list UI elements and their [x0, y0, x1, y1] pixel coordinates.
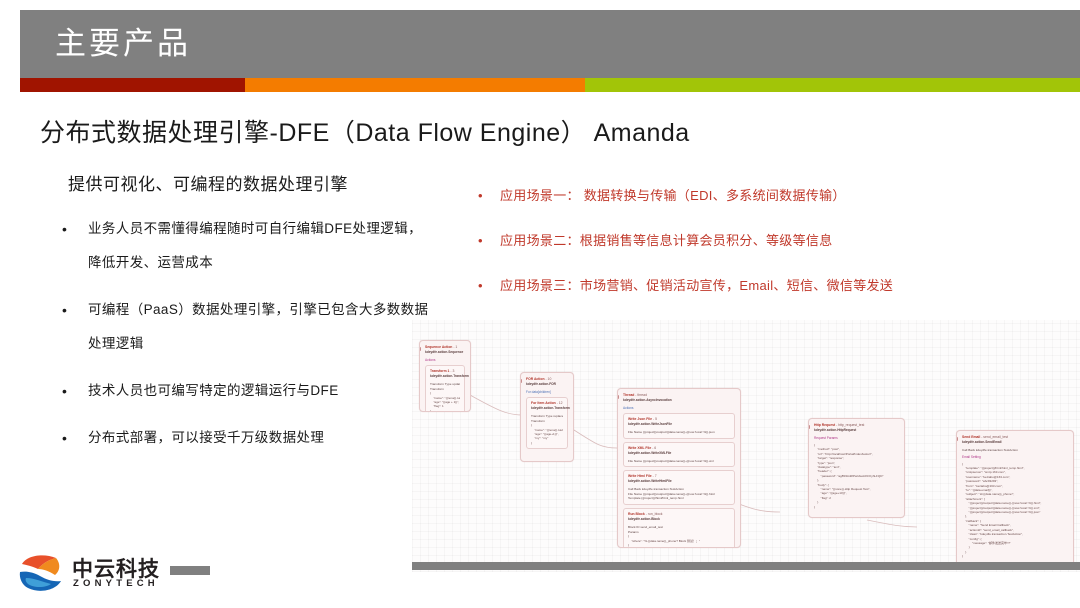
bullet-marker: •	[62, 293, 88, 327]
inner-node-line: Transform Type update	[430, 382, 460, 387]
node-code: { "template": "{{project}}/html/html_tem…	[962, 462, 1068, 559]
list-item: • 分布式部署，可以接受千万级数据处理	[62, 421, 432, 455]
slide: 主要产品 分布式数据处理引擎-DFE（Data Flow Engine） Ama…	[0, 0, 1080, 608]
node-code: { "method": "post", "url": "http://local…	[814, 443, 899, 509]
inner-node-line: File Name {{project}}/output/{{data.name…	[628, 459, 730, 464]
list-item: • 技术人员也可编写特定的逻辑运行与DFE	[62, 374, 432, 408]
logo-rule	[170, 566, 210, 575]
node-section-label: Request Params	[814, 436, 899, 441]
list-item-label: 分布式部署，可以接受千万级数据处理	[88, 421, 432, 455]
inner-node-code: { "name": "{{none}} Hello", "age": "{{ag…	[430, 391, 460, 412]
node-class: kdeydfe.action.SendEmail	[962, 440, 1068, 445]
inner-node-line: Transform Type replace	[531, 414, 563, 419]
diagram-bottom-strip	[412, 562, 1080, 570]
node-class: kdeydfe.action.HttpRequest	[814, 428, 899, 433]
inner-action-card[interactable]: Write XML File - 6 kdeydfe.action.WriteX…	[623, 442, 735, 468]
list-item-label: 业务人员不需懂得编程随时可自行编辑DFE处理逻辑，降低开发、运营成本	[88, 212, 432, 280]
node-port-icon	[956, 437, 958, 441]
node-send-email[interactable]: Send Email - send_email_test kdeydfe.act…	[956, 430, 1074, 568]
node-sequence-action[interactable]: Sequence Action - 1 kdeydfe.action.Seque…	[419, 340, 471, 412]
inner-action-card[interactable]: Run Block - run_block kdeydfe.action.Blo…	[623, 508, 735, 548]
list-item: • 应用场景二：根据销售等信息计算会员积分、等级等信息	[478, 231, 1058, 251]
inner-node-class: kdeydfe.action.Transform	[531, 406, 563, 411]
inner-action-card[interactable]: For Item Action - 12 kdeydfe.action.Tran…	[526, 397, 568, 449]
subject-title: 分布式数据处理引擎-DFE（Data Flow Engine） Amanda	[40, 113, 690, 149]
inner-node-class: kdeydfe.action.WriteJsonFile	[628, 422, 730, 427]
use-case-list: • 应用场景一： 数据转换与传输（EDI、多系统间数据传输） • 应用场景二：根…	[478, 186, 1058, 321]
list-item: • 应用场景三：市场营销、促销活动宣传，Email、短信、微信等发送	[478, 276, 1058, 296]
inner-node-class: kdeydfe.action.WriteXMLFile	[628, 451, 730, 456]
node-class: kdeydfe.action.Sequence	[425, 350, 465, 355]
inner-action-card[interactable]: Transform 1 - 3 kdeydfe.action.Transform…	[425, 365, 465, 412]
node-class: kdeydfe.action.AsyncInvocation	[623, 398, 735, 403]
lead-text: 提供可视化、可编程的数据处理引擎	[68, 170, 348, 195]
logo-text-en: ZONYTECH	[73, 578, 159, 589]
bullet-marker: •	[478, 231, 500, 251]
inner-node-class: kdeydfe.action.Block	[628, 517, 730, 522]
node-line: Call Back kdeydfe.transaction.TestAction	[962, 448, 1068, 453]
zonytech-emblem-icon	[18, 552, 64, 594]
node-class: kdeydfe.action.FOR	[526, 382, 568, 387]
bullet-marker: •	[478, 186, 500, 206]
accent-bar-orange	[245, 78, 585, 92]
node-port-icon	[520, 379, 522, 383]
inner-node-code: { "name": "{{none}} Hello Child", "age":…	[531, 423, 563, 445]
list-item: • 应用场景一： 数据转换与传输（EDI、多系统间数据传输）	[478, 186, 1058, 206]
node-section-label: Actions	[623, 406, 735, 411]
node-section-label: Actions	[425, 358, 465, 363]
accent-bar-red	[20, 78, 245, 92]
list-item-label: 应用场景三：市场营销、促销活动宣传，Email、短信、微信等发送	[500, 276, 1058, 296]
node-section-label: For data[children]	[526, 390, 568, 395]
list-item: • 业务人员不需懂得编程随时可自行编辑DFE处理逻辑，降低开发、运营成本	[62, 212, 432, 280]
inner-node-line: Template {{project}}/html/html_temp.html	[628, 496, 730, 501]
node-port-icon	[419, 347, 421, 351]
node-port-icon	[617, 395, 619, 399]
company-logo: 中云科技 ZONYTECH	[18, 550, 218, 600]
page-title: 主要产品	[55, 22, 191, 66]
list-item-label: 技术人员也可编写特定的逻辑运行与DFE	[88, 374, 432, 408]
list-item-label: 应用场景二：根据销售等信息计算会员积分、等级等信息	[500, 231, 1058, 251]
list-item-label: 可编程（PaaS）数据处理引擎，引擎已包含大多数数据处理逻辑	[88, 293, 432, 361]
node-section-label: Email Setting	[962, 455, 1068, 460]
left-bullet-list: • 业务人员不需懂得编程随时可自行编辑DFE处理逻辑，降低开发、运营成本 • 可…	[62, 212, 432, 468]
bullet-marker: •	[62, 212, 88, 246]
node-port-icon	[808, 425, 810, 429]
node-for-action[interactable]: FOR Action - 10 kdeydfe.action.FOR For d…	[520, 372, 574, 462]
list-item-label: 应用场景一： 数据转换与传输（EDI、多系统间数据传输）	[500, 186, 1058, 206]
inner-action-card[interactable]: Write Json File - 5 kdeydfe.action.Write…	[623, 413, 735, 439]
inner-node-class: kdeydfe.action.WriteHtmlFile	[628, 479, 730, 484]
inner-node-line: File Name {{project}}/output/{{data.name…	[628, 430, 730, 435]
inner-action-card[interactable]: Write Html File - 7 kdeydfe.action.Write…	[623, 470, 735, 505]
bullet-marker: •	[62, 374, 88, 408]
inner-node-code: { "where": "%-{{data.name}}_phone? Block…	[628, 534, 730, 547]
node-thread[interactable]: Thread - thread kdeydfe.action.AsyncInvo…	[617, 388, 741, 548]
accent-bar-green	[585, 78, 1080, 92]
dfe-flow-diagram: Sequence Action - 1 kdeydfe.action.Seque…	[412, 320, 1080, 572]
bullet-marker: •	[62, 421, 88, 455]
bullet-marker: •	[478, 276, 500, 296]
list-item: • 可编程（PaaS）数据处理引擎，引擎已包含大多数数据处理逻辑	[62, 293, 432, 361]
node-http-request[interactable]: Http Request - http_request_test kdeydfe…	[808, 418, 905, 518]
inner-node-class: kdeydfe.action.Transform	[430, 374, 460, 379]
